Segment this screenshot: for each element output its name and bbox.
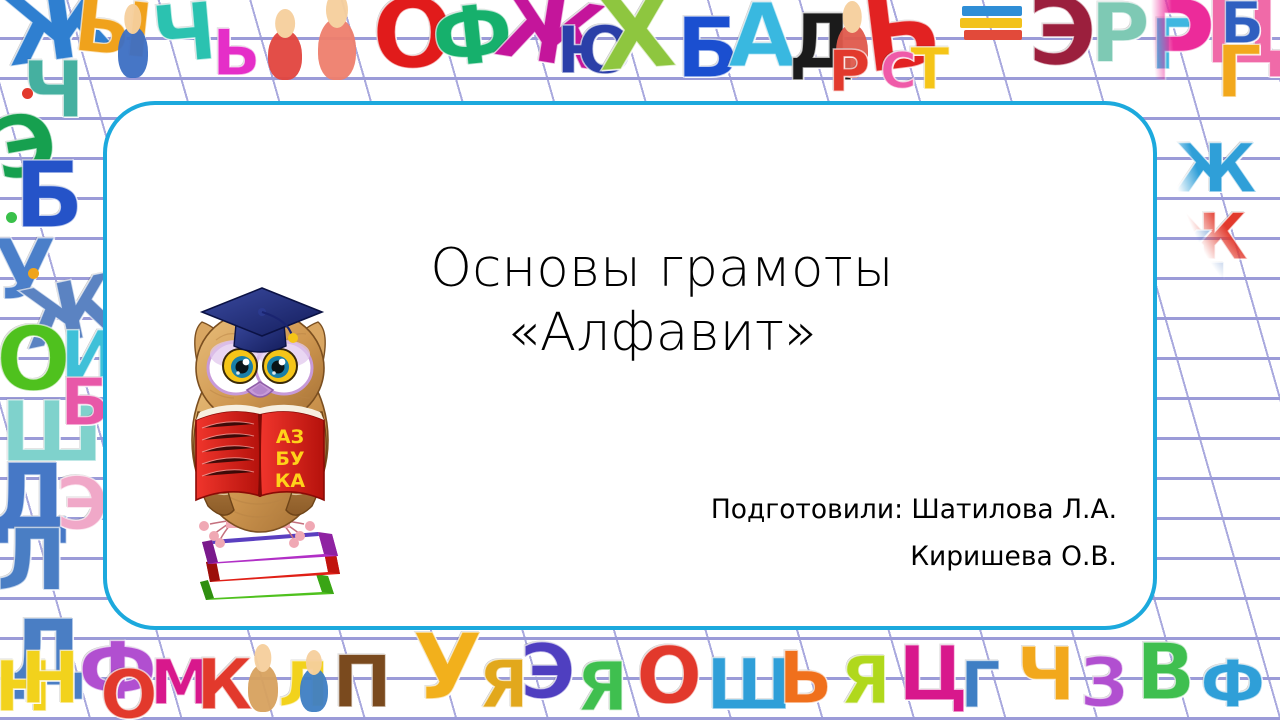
- collage-kid-bottom: [248, 664, 278, 712]
- authors-block: Подготовили: Шатилова Л.А. Киришева О.В.: [711, 486, 1117, 580]
- book-text-bu: БУ: [275, 448, 304, 470]
- collage-kid-girl: [268, 30, 302, 80]
- collage-letter-kh: Х: [592, 0, 679, 87]
- collage-letter-ts-bottom: Ц: [898, 636, 969, 712]
- alphabet-collage-bottom: Н Ф М О К Л П У Я Э Я О Ш Ь Я Ц Г Ч З В …: [0, 628, 1280, 720]
- alphabet-collage-left: Э Ч Б У Ж О И Ш Б Д Э Л Д Н: [0, 0, 106, 720]
- collage-books: [964, 30, 1022, 40]
- authors-line-2: Киришева О.В.: [711, 533, 1117, 580]
- azbuka-book: АЗ БУ КА: [196, 405, 324, 500]
- collage-letter-l-left: Л: [0, 518, 67, 604]
- collage-letter-soft: Ь: [212, 22, 261, 86]
- collage-letter-p-bottom: П: [332, 646, 392, 718]
- collage-letter-n-bottom: Н: [20, 642, 80, 714]
- collage-letter-b-right: Б: [1220, 0, 1264, 52]
- page-title: Основы грамоты «Алфавит»: [227, 237, 1097, 366]
- collage-letter-ya2-bottom: Я: [840, 648, 891, 714]
- collage-letter-es: С: [880, 46, 917, 96]
- collage-dot: [22, 88, 33, 99]
- presentation-slide: Ж Ы Ч Ь О Ф Ж Ю Х Б А Д Ь Э Р Г Ц Р Т С …: [0, 0, 1280, 720]
- collage-letter-g-bottom: Г: [960, 654, 1001, 718]
- collage-kid-bottom-2: [300, 668, 328, 712]
- collage-letter-e-bottom: Э: [520, 634, 576, 710]
- collage-letter-r-bottom: Я: [576, 654, 628, 720]
- collage-letter-r-right: Р: [1134, 0, 1216, 98]
- collage-letter-be-left: Б: [60, 370, 106, 436]
- collage-dot: [6, 212, 17, 223]
- collage-letter-i-right: И: [1176, 256, 1230, 320]
- collage-letter-soft-bottom: Ь: [778, 642, 833, 714]
- collage-letter-f-bottom: Ф: [1200, 652, 1265, 718]
- collage-letter-u-bottom: У: [412, 628, 483, 714]
- collage-books: [960, 18, 1022, 28]
- alphabet-collage-top: Ж Ы Ч Ь О Ф Ж Ю Х Б А Д Ь Э Р Г Ц Р Т С: [0, 0, 1280, 104]
- collage-kid-boy: [318, 18, 356, 80]
- collage-dot: [28, 268, 39, 279]
- collage-letter-ch-bottom: Ч: [1016, 638, 1076, 712]
- collage-letter-k2-bottom: К: [196, 650, 253, 720]
- slide-content-card: АЗ БУ КА Основы грамоты «Алфавит» Подгот…: [103, 101, 1157, 630]
- collage-letter-z-bottom: З: [1080, 650, 1128, 718]
- collage-letter-a: А: [728, 0, 796, 80]
- collage-books: [962, 6, 1022, 16]
- collage-letter-zh-right: Ж: [1174, 136, 1257, 204]
- book-text-ka: КА: [275, 470, 306, 492]
- collage-letter-e-reversed: Э: [1028, 0, 1097, 80]
- authors-line-1: Подготовили: Шатилова Л.А.: [711, 486, 1117, 533]
- collage-letter-s: Р: [828, 42, 871, 100]
- collage-letter-ch: Ч: [149, 0, 220, 77]
- collage-letter-k-bottom: О: [100, 662, 158, 720]
- collage-kid-figure: [118, 26, 148, 78]
- book-text-az: АЗ: [276, 426, 304, 448]
- collage-letter-o2-bottom: О: [636, 638, 702, 716]
- collage-letter-v-bottom: В: [1136, 634, 1195, 712]
